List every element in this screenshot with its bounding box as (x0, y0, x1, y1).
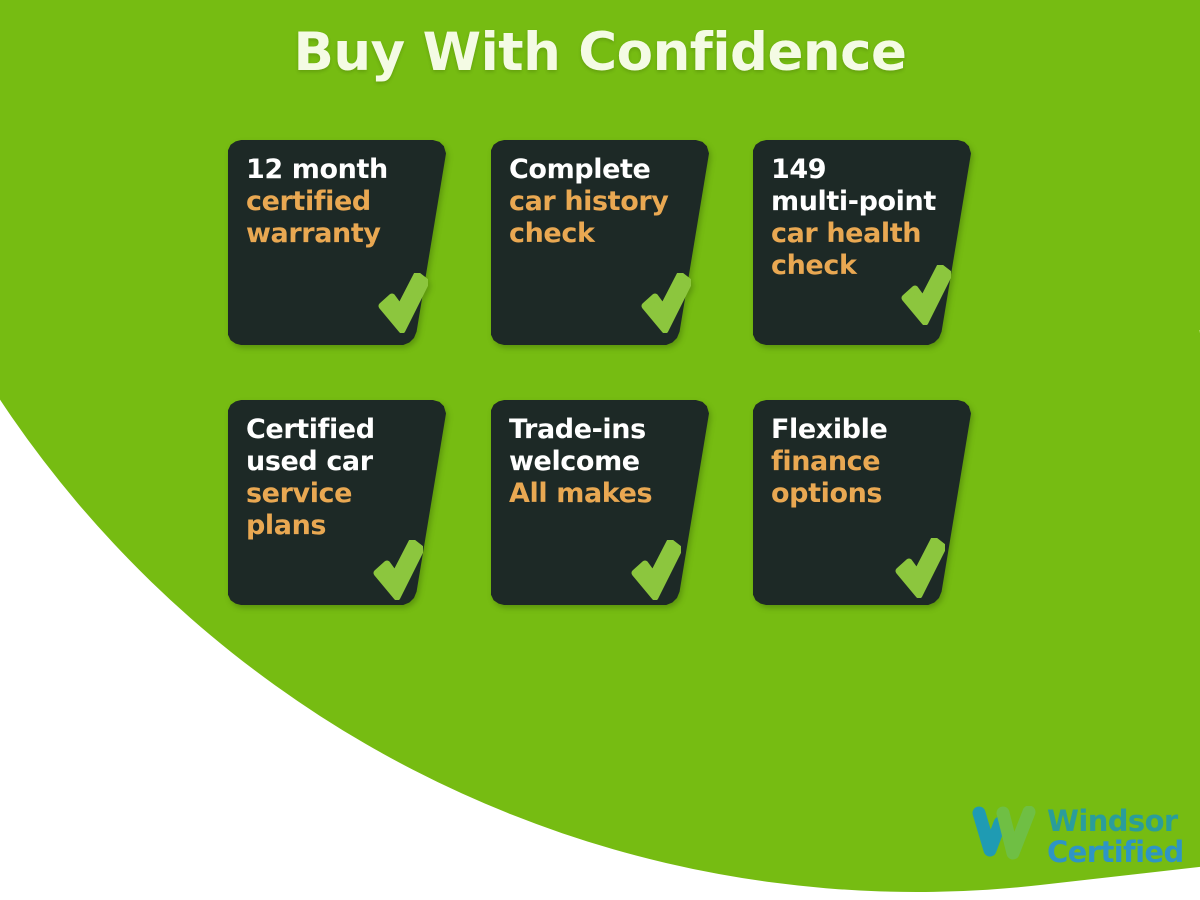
card-line-orange: service (246, 478, 416, 510)
check-icon (899, 265, 951, 325)
card-line-orange: All makes (509, 478, 679, 510)
windsor-certified-logo[interactable]: Windsor Certified (972, 806, 1184, 868)
card-text: Certified used car service plans (246, 414, 416, 541)
check-icon (893, 538, 945, 598)
card-line-orange: warranty (246, 218, 416, 250)
card-line-orange: finance (771, 446, 941, 478)
card-line-orange: certified (246, 186, 416, 218)
check-icon (371, 540, 423, 600)
check-icon (639, 273, 691, 333)
card-line-white: Trade-ins (509, 414, 679, 446)
feature-card-trade-ins-welcome-all-makes[interactable]: Trade-ins welcome All makes (491, 400, 709, 605)
feature-card-complete-car-history-check[interactable]: Complete car history check (491, 140, 709, 345)
feature-card-grid: 12 month certified warranty Complete car… (228, 140, 978, 660)
feature-card-flexible-finance-options[interactable]: Flexible finance options (753, 400, 971, 605)
card-line-orange: check (509, 218, 679, 250)
feature-card-149-multi-point-car-health-check[interactable]: 149 multi-point car health check (753, 140, 971, 345)
page-title: Buy With Confidence (0, 22, 1200, 83)
card-line-orange: plans (246, 510, 416, 542)
card-line-orange: car history (509, 186, 679, 218)
card-line-white: welcome (509, 446, 679, 478)
card-text: 149 multi-point car health check (771, 154, 941, 281)
feature-card-12-month-certified-warranty[interactable]: 12 month certified warranty (228, 140, 446, 345)
logo-line-windsor: Windsor (1047, 806, 1184, 837)
card-line-white: 149 (771, 154, 941, 186)
windsor-w-icon (972, 806, 1038, 868)
logo-wordmark: Windsor Certified (1047, 806, 1184, 867)
card-text: Trade-ins welcome All makes (509, 414, 679, 510)
card-line-white: used car (246, 446, 416, 478)
check-icon (376, 273, 428, 333)
card-line-orange: options (771, 478, 941, 510)
card-line-white: Flexible (771, 414, 941, 446)
card-line-white: Complete (509, 154, 679, 186)
card-line-white: 12 month (246, 154, 416, 186)
logo-line-certified: Certified (1047, 837, 1184, 868)
card-text: 12 month certified warranty (246, 154, 416, 250)
check-icon (629, 540, 681, 600)
card-line-orange: car health (771, 218, 941, 250)
poster-canvas: Buy With Confidence 12 month certified w… (0, 0, 1200, 900)
card-text: Flexible finance options (771, 414, 941, 510)
feature-card-certified-used-car-service-plans[interactable]: Certified used car service plans (228, 400, 446, 605)
card-text: Complete car history check (509, 154, 679, 250)
card-line-white: multi-point (771, 186, 941, 218)
card-line-white: Certified (246, 414, 416, 446)
feature-card-row: Certified used car service plans Trade-i… (228, 400, 978, 660)
feature-card-row: 12 month certified warranty Complete car… (228, 140, 978, 400)
